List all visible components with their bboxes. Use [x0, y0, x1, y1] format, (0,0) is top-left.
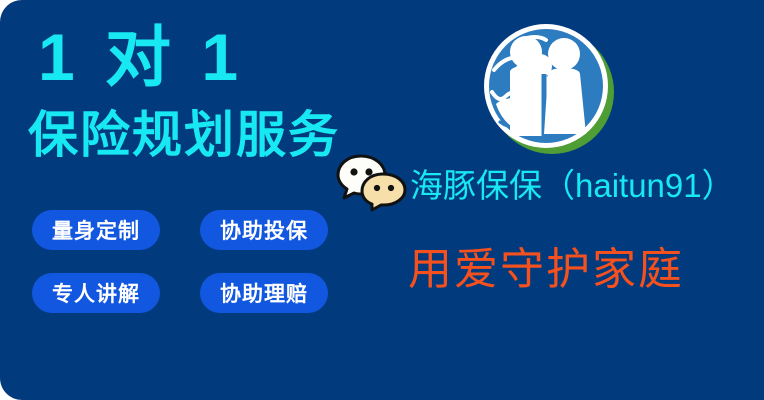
pill-custom-plan[interactable]: 量身定制 [32, 210, 160, 250]
headline-one-to-one: 1 对 1 [38, 24, 244, 90]
slogan-text: 用爱守护家庭 [408, 248, 684, 292]
wechat-icon [336, 152, 408, 214]
pill-assist-claim[interactable]: 协助理赔 [200, 273, 328, 313]
pill-assist-apply[interactable]: 协助投保 [200, 210, 328, 250]
wechat-id-label: 海豚保保（haitun91） [410, 159, 735, 207]
globe-family-dolphin-logo [478, 18, 620, 160]
pill-expert-explain[interactable]: 专人讲解 [32, 273, 160, 313]
headline-service: 保险规划服务 [28, 110, 340, 160]
feature-pill-grid: 量身定制 协助投保 专人讲解 协助理赔 [32, 210, 332, 313]
promo-banner: 1 对 1 保险规划服务 量身定制 协助投保 专人讲解 协助理赔 [0, 0, 764, 400]
wechat-contact-row[interactable]: 海豚保保（haitun91） [336, 152, 735, 214]
